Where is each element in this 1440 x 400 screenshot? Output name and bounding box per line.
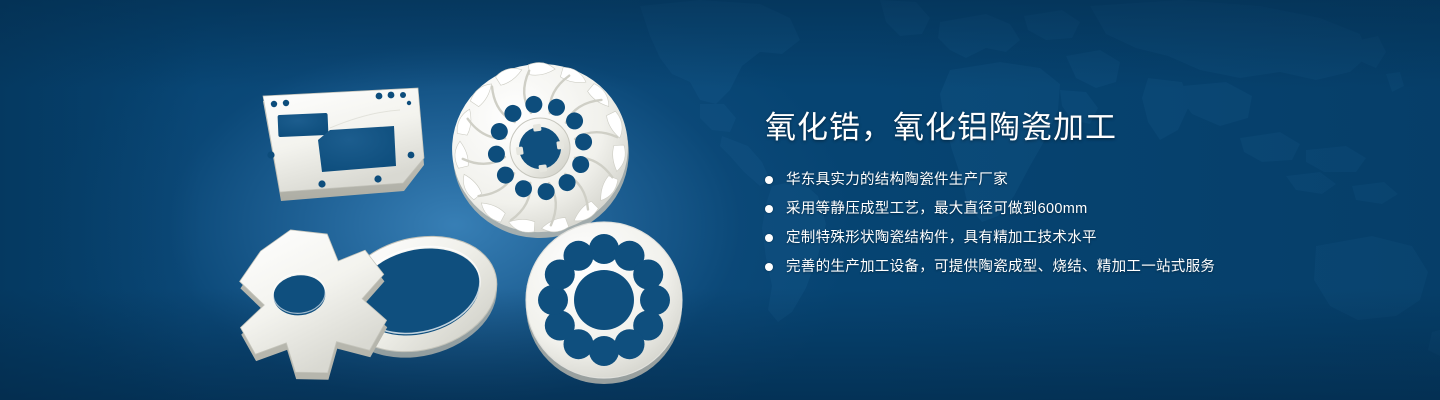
list-item: 定制特殊形状陶瓷结构件，具有精加工技术水平: [765, 228, 1385, 248]
product-ceramic-impeller: [441, 48, 641, 249]
page-title: 氧化锆，氧化铝陶瓷加工: [765, 108, 1385, 148]
bullet-dot-icon: [765, 263, 773, 271]
feature-text: 定制特殊形状陶瓷结构件，具有精加工技术水平: [786, 228, 1097, 248]
list-item: 完善的生产加工设备，可提供陶瓷成型、烧结、精加工一站式服务: [765, 257, 1385, 277]
feature-text: 华东具实力的结构陶瓷件生产厂家: [786, 170, 1008, 190]
product-ceramic-plate: [263, 88, 424, 201]
promo-banner: 氧化锆，氧化铝陶瓷加工 华东具实力的结构陶瓷件生产厂家 采用等静压成型工艺，最大…: [0, 0, 1440, 400]
bullet-dot-icon: [765, 176, 773, 184]
feature-text: 完善的生产加工设备，可提供陶瓷成型、烧结、精加工一站式服务: [786, 257, 1215, 277]
feature-text: 采用等静压成型工艺，最大直径可做到600mm: [786, 199, 1087, 219]
product-perforated-flange: [526, 222, 682, 384]
bullet-dot-icon: [765, 205, 773, 213]
list-item: 华东具实力的结构陶瓷件生产厂家: [765, 170, 1385, 190]
list-item: 采用等静压成型工艺，最大直径可做到600mm: [765, 199, 1385, 219]
feature-list: 华东具实力的结构陶瓷件生产厂家 采用等静压成型工艺，最大直径可做到600mm 定…: [765, 170, 1385, 277]
banner-copy: 氧化锆，氧化铝陶瓷加工 华东具实力的结构陶瓷件生产厂家 采用等静压成型工艺，最大…: [765, 108, 1385, 286]
bullet-dot-icon: [765, 234, 773, 242]
ceramic-products-photo: [0, 0, 720, 400]
